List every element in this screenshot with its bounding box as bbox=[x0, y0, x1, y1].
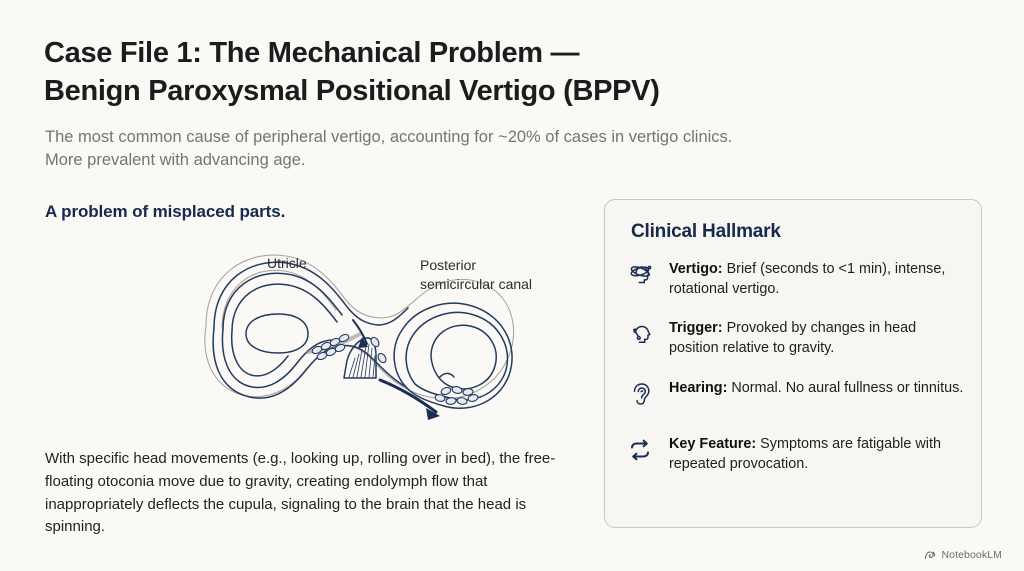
page-subtitle: The most common cause of peripheral vert… bbox=[45, 126, 975, 173]
ear-icon bbox=[623, 377, 657, 415]
dizzy-head-icon bbox=[623, 258, 657, 296]
brand-name: NotebookLM bbox=[941, 549, 1002, 561]
clinical-hallmark-card: Clinical Hallmark Vertigo: Brief (second… bbox=[604, 199, 982, 528]
hallmark-item-vertigo: Vertigo: Brief (seconds to <1 min), inte… bbox=[623, 258, 965, 299]
page-subtitle-line-2: More prevalent with advancing age. bbox=[45, 149, 975, 172]
hallmark-label-vertigo: Vertigo: bbox=[669, 261, 723, 277]
left-body-paragraph: With specific head movements (e.g., look… bbox=[45, 448, 590, 539]
hallmark-label-hearing: Hearing: bbox=[669, 380, 727, 396]
diagram-label-posterior-semicircular-canal: Posterior semicircular canal bbox=[420, 256, 540, 295]
hallmark-text-key-feature: Key Feature: Symptoms are fatigable with… bbox=[669, 433, 965, 474]
hallmark-text-trigger: Trigger: Provoked by changes in head pos… bbox=[669, 317, 965, 358]
footer-brand: NotebookLM bbox=[924, 549, 1002, 561]
hallmark-label-key-feature: Key Feature: bbox=[669, 436, 756, 452]
page-title-line-1: Case File 1: The Mechanical Problem — bbox=[44, 34, 804, 72]
slide-canvas: Case File 1: The Mechanical Problem — Be… bbox=[0, 0, 1024, 571]
left-section-heading: A problem of misplaced parts. bbox=[45, 202, 285, 222]
page-title: Case File 1: The Mechanical Problem — Be… bbox=[44, 34, 804, 111]
clinical-hallmark-title: Clinical Hallmark bbox=[631, 221, 781, 243]
hallmark-item-hearing: Hearing: Normal. No aural fullness or ti… bbox=[623, 377, 965, 415]
repeat-arrows-icon bbox=[623, 433, 657, 471]
hallmark-desc-hearing: Normal. No aural fullness or tinnitus. bbox=[727, 380, 963, 396]
head-position-icon bbox=[623, 317, 657, 355]
page-title-line-2: Benign Paroxysmal Positional Vertigo (BP… bbox=[44, 72, 804, 110]
hallmark-text-vertigo: Vertigo: Brief (seconds to <1 min), inte… bbox=[669, 258, 965, 299]
diagram-label-utricle: Utricle bbox=[267, 254, 307, 273]
notebooklm-logo-icon bbox=[924, 549, 936, 561]
hallmark-item-key-feature: Key Feature: Symptoms are fatigable with… bbox=[623, 433, 965, 474]
hallmark-label-trigger: Trigger: bbox=[669, 320, 723, 336]
clinical-hallmark-list: Vertigo: Brief (seconds to <1 min), inte… bbox=[623, 258, 965, 474]
hallmark-text-hearing: Hearing: Normal. No aural fullness or ti… bbox=[669, 377, 963, 398]
hallmark-item-trigger: Trigger: Provoked by changes in head pos… bbox=[623, 317, 965, 358]
page-subtitle-line-1: The most common cause of peripheral vert… bbox=[45, 126, 975, 149]
